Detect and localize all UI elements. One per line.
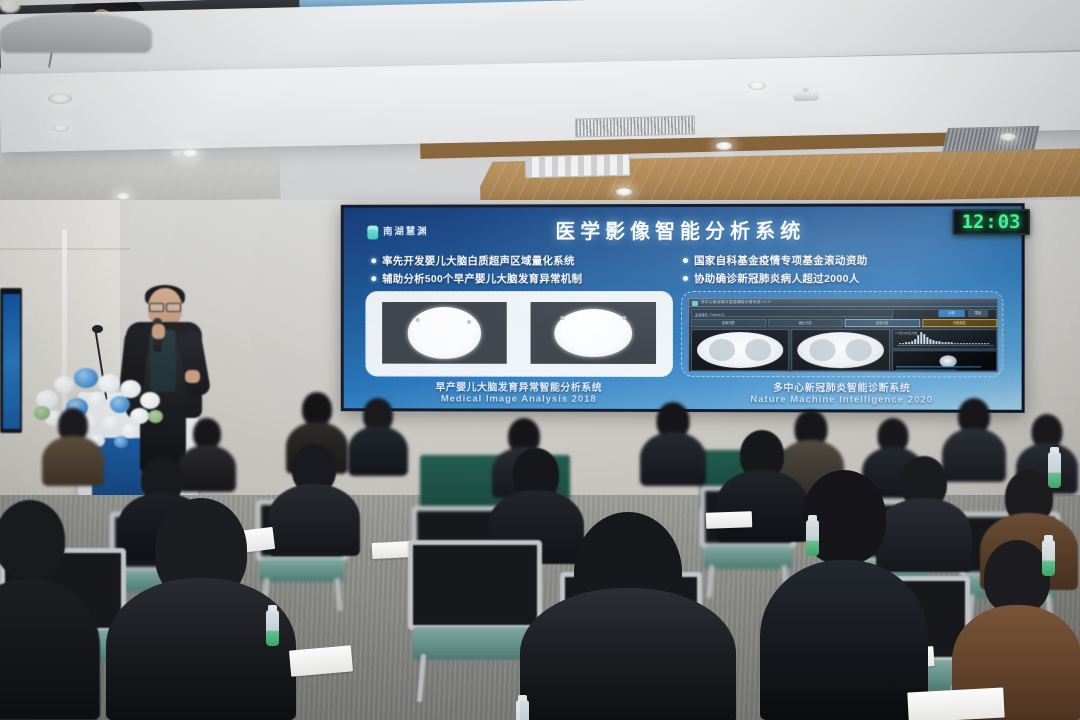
ct-scan-view[interactable] [691,329,789,371]
histogram-bar [957,343,959,344]
bullet-text: 率先开发婴儿大脑白质超声区域量化系统 [382,255,575,267]
app-tabs: 影像列表 病灶分割 定量分析 诊断报告 [691,319,997,327]
flower [140,392,160,409]
medical-imaging-app[interactable]: 多中心新冠肺炎智能辅助诊断系统 v2.0 患者编号 / Patient ID 分… [688,298,998,373]
histogram-bar [942,342,944,344]
audience-member [760,470,928,720]
wall-led-clock: 12 : 03 [953,209,1030,235]
histogram-bar [975,343,977,344]
flower [98,374,120,393]
slide-panel-right: 多中心新冠肺炎智能辅助诊断系统 v2.0 患者编号 / Patient ID 分… [681,291,1003,378]
downlight [116,193,130,200]
histogram-bar [960,343,962,344]
ct-lung-image [697,332,783,368]
bullet-dot-icon [683,258,688,263]
flower [114,436,128,448]
flower [120,380,141,398]
histogram-bar [954,343,956,344]
paper-handout [907,688,1004,720]
volume-render-panel [892,350,997,371]
flower [148,410,163,423]
bullet-dot-icon [371,276,376,281]
water-bottle [516,700,529,720]
histogram-bar [987,343,989,344]
downlight [52,124,69,132]
ct-lung-image [797,332,884,368]
bottle-cap [518,695,527,701]
histogram-bar [945,342,947,344]
audience-shoulders [0,579,100,720]
slide-bullets-right: 国家自科基金疫情专项基金滚动资助 协助确诊新冠肺炎病人超过2000人 [683,255,995,286]
bottle-cap [1050,447,1059,453]
presenter-hand-left [152,324,165,339]
slide-title: 医学影像智能分析系统 [344,214,1022,244]
flower [102,416,120,431]
slide-caption-left: 早产婴儿大脑发育异常智能分析系统 Medical Image Analysis … [365,378,673,405]
paper-handout [372,541,413,559]
histogram-bar [972,343,974,344]
caption-cn: 多中心新冠肺炎智能诊断系统 [681,379,1003,395]
flower [122,424,138,438]
paper-handout [289,645,353,676]
bullet-dot-icon [683,276,688,281]
ac-vent-side [942,126,1039,152]
bullet-item: 国家自科基金疫情专项基金滚动资助 [683,255,995,267]
histogram-bar [899,343,901,344]
histogram-bar [902,343,904,344]
bullet-item: 率先开发婴儿大脑白质超声区域量化系统 [371,255,669,267]
slide-canvas: 南湖慧渊 医学影像智能分析系统 率先开发婴儿大脑白质超声区域量化系统 辅助分析5… [344,206,1022,410]
tab-image-list[interactable]: 影像列表 [691,319,766,327]
bullet-text: 国家自科基金疫情专项基金滚动资助 [694,255,868,267]
main-presentation-screen[interactable]: 南湖慧渊 医学影像智能分析系统 率先开发婴儿大脑白质超声区域量化系统 辅助分析5… [341,203,1025,413]
histogram-bar [984,343,986,344]
flower [74,368,98,388]
conference-photo: 南湖慧渊 医学影像智能分析系统 率先开发婴儿大脑白质超声区域量化系统 辅助分析5… [0,0,1080,720]
chair-seat [413,627,536,660]
clock-separator: : [985,212,996,231]
tab-lesion-seg[interactable]: 病灶分割 [768,319,843,327]
bottle-cap [1044,535,1053,541]
histogram-bar [948,342,950,344]
app-titlebar: 多中心新冠肺炎智能辅助诊断系统 v2.0 [689,299,997,307]
audience-member [42,408,104,486]
patient-id-field[interactable]: 患者编号 / Patient ID [691,309,894,317]
water-bottle [1048,452,1061,488]
side-monitor[interactable] [0,288,22,433]
bullet-dot-icon [371,258,376,263]
flower [110,396,130,413]
histogram-bar [969,343,971,344]
slide-bullets-left: 率先开发婴儿大脑白质超声区域量化系统 辅助分析500个早产婴儿大脑发育异常机制 [371,255,669,285]
audience-shoulders [42,436,104,486]
downlight [1000,133,1016,141]
histogram-bar [966,343,968,344]
audience-member [0,500,100,720]
histogram-bar [920,332,922,344]
glasses-icon [149,303,181,310]
hoodie-collar [0,13,152,53]
flower [88,392,106,407]
tab-quant-analysis[interactable]: 定量分析 [845,319,920,327]
audience-shoulders [520,588,736,720]
histogram-bar [963,343,965,344]
caption-cn: 早产婴儿大脑发育异常智能分析系统 [365,378,673,394]
histogram-axis [897,345,994,346]
histogram-bar [908,342,910,344]
downlight [181,149,199,158]
slide-panel-left [365,291,673,377]
audience-member [520,512,736,720]
ct-scan-view[interactable] [791,329,890,371]
histogram-bar [911,341,913,344]
clock-minutes: 03 [998,212,1021,231]
water-bottle [806,520,819,556]
presenter-hand-right [185,370,200,383]
clock-hours: 12 [962,213,985,232]
bullet-text: 辅助分析500个早产婴儿大脑发育异常机制 [382,273,582,285]
side-monitor-screen [3,294,21,429]
tab-diagnostic-report[interactable]: 诊断报告 [922,319,997,327]
downlight [616,188,632,196]
ac-vent-diffuser [525,154,631,179]
audience-member [640,402,706,486]
audience-shoulders [640,432,706,486]
histogram-bar [932,340,934,344]
caption-en: Medical Image Analysis 2018 [365,393,673,405]
hair-ornament [0,0,20,13]
histogram-bar [926,337,928,344]
flower [130,408,149,424]
ultrasound-scan-tile [531,302,656,364]
bullet-item: 辅助分析500个早产婴儿大脑发育异常机制 [371,273,669,285]
histogram-bar [935,341,937,344]
analyze-button[interactable]: 分析 [938,310,964,317]
microphone-icon [92,325,103,333]
histogram-bar [978,343,980,344]
bottle-cap [808,515,817,521]
brain-region-blob [408,307,481,359]
audience-shoulders [760,560,928,720]
histogram-bar [938,341,940,344]
ceiling-slats-left [0,155,280,206]
app-logo-icon [692,300,698,305]
app-window-title: 多中心新冠肺炎智能辅助诊断系统 v2.0 [701,300,771,305]
histogram-bar [905,342,907,344]
downlight [748,81,766,90]
audience-head [0,500,65,578]
histogram-bar [917,335,919,344]
histogram-bar [951,342,953,344]
downlight [48,93,72,104]
histogram-bar [923,334,925,344]
downlight [716,142,732,150]
patient-id-label: 患者编号 / Patient ID [695,312,724,317]
water-bottle [1042,540,1055,576]
brain-region-blob [554,309,632,357]
audience-shoulders [106,578,296,720]
ultrasound-scan-tile [382,302,507,364]
histogram-bar [914,339,916,344]
ceiling [0,0,1080,215]
flower [54,376,74,393]
histogram-bar [981,343,983,344]
bottle-cap [268,605,277,611]
histogram-bars [899,332,992,344]
export-button[interactable]: 导出 [968,310,988,317]
bullet-text: 协助确诊新冠肺炎病人超过2000人 [694,273,860,285]
water-bottle [266,610,279,646]
histogram-bar [929,339,931,344]
histogram-panel: CT值分布直方图 [892,329,997,349]
ac-vent-grille [575,115,695,137]
audience-head [302,392,332,426]
bullet-item: 协助确诊新冠肺炎病人超过2000人 [683,273,995,285]
audience-head [984,540,1050,614]
ceiling-camera-icon [793,88,820,104]
